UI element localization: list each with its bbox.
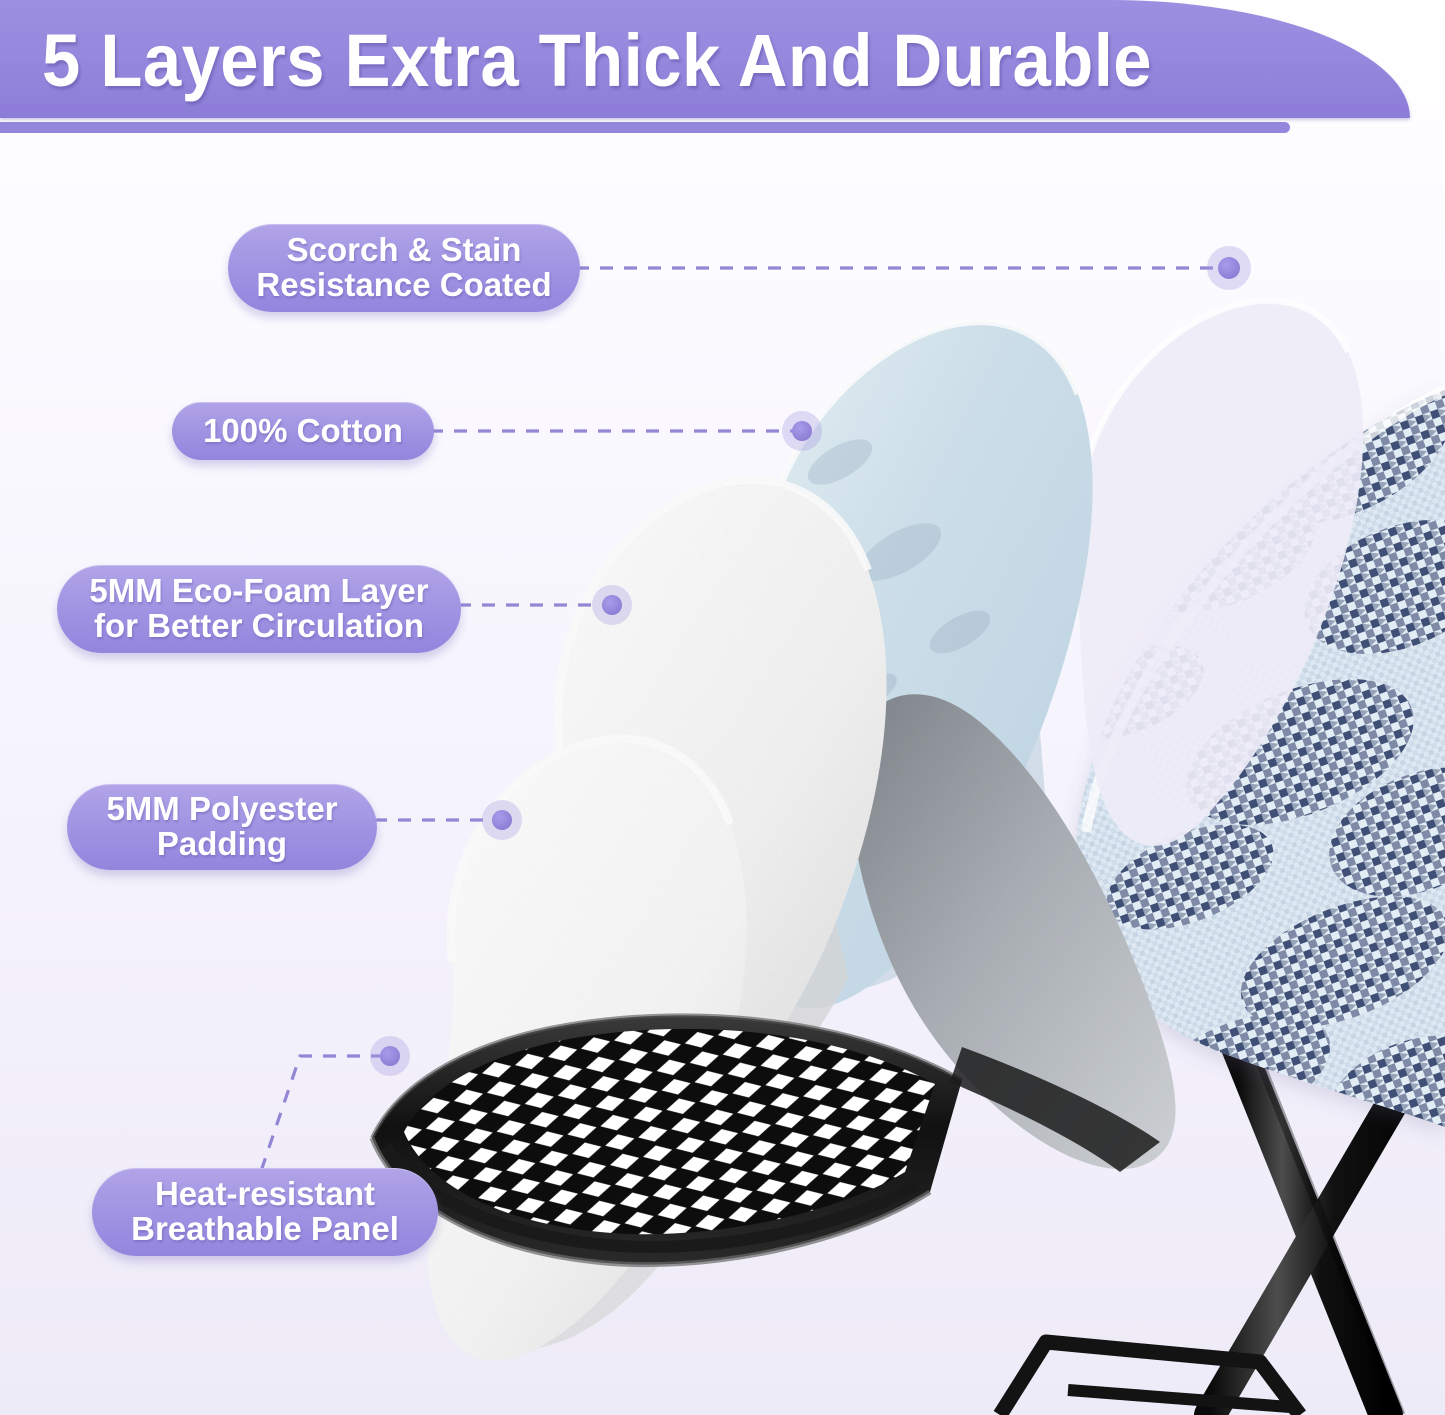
callout-heat-resistant-panel: Heat-resistant Breathable Panel bbox=[92, 1168, 438, 1256]
dot-core bbox=[380, 1046, 400, 1066]
callout-scorch-stain: Scorch & Stain Resistance Coated bbox=[228, 224, 580, 312]
header-banner: 5 Layers Extra Thick And Durable bbox=[0, 0, 1410, 132]
page-title: 5 Layers Extra Thick And Durable bbox=[42, 16, 1242, 104]
dot-core bbox=[792, 421, 812, 441]
connector-dot-scorch bbox=[1207, 246, 1251, 290]
connector-dot-heat bbox=[370, 1036, 410, 1076]
connector-dot-foam bbox=[592, 585, 632, 625]
connector-dot-poly bbox=[482, 800, 522, 840]
dot-core bbox=[602, 595, 622, 615]
dot-core bbox=[1218, 257, 1240, 279]
connector-dot-cotton bbox=[782, 411, 822, 451]
callout-eco-foam: 5MM Eco-Foam Layer for Better Circulatio… bbox=[57, 565, 461, 653]
callout-polyester-padding: 5MM Polyester Padding bbox=[67, 784, 377, 870]
callout-cotton: 100% Cotton bbox=[172, 402, 434, 460]
dot-core bbox=[492, 810, 512, 830]
